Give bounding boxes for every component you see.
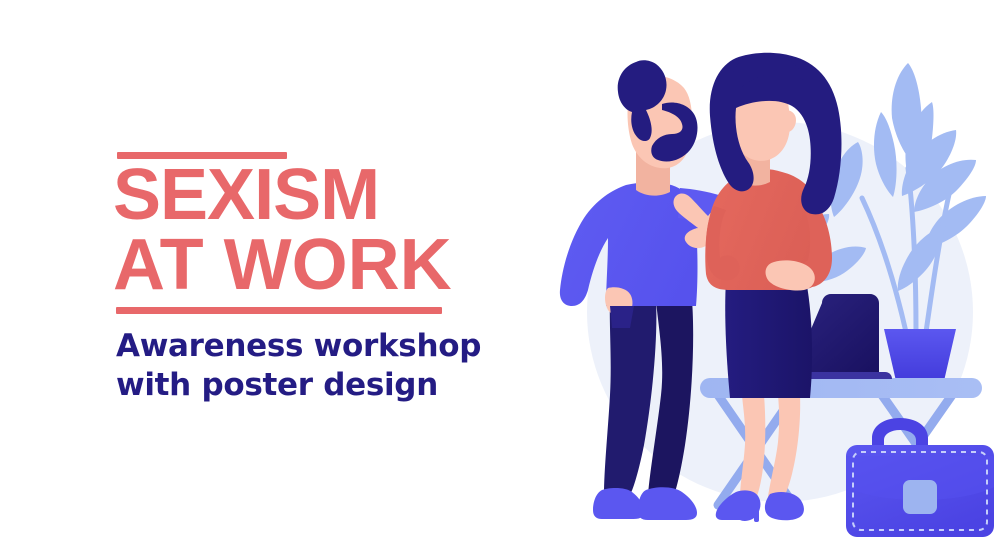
briefcase-clasp [903,480,937,514]
subtitle-line-2: with poster design [116,366,546,405]
page-title: SEXISM AT WORK [113,160,553,300]
text-pane: SEXISM AT WORK Awareness workshop with p… [0,0,560,555]
headline-bottom-rule [116,307,442,314]
man-shoe-right [638,487,697,520]
subtitle: Awareness workshop with poster design [116,327,546,405]
woman-heel-left-stiletto [754,500,759,522]
office-scene-svg [540,0,1000,555]
headline-line-2: AT WORK [113,230,553,300]
man-pocket-detail [610,306,634,328]
illustration [540,0,1000,555]
man-shoe-left [593,488,644,519]
headline-line-1: SEXISM [113,155,379,235]
subtitle-line-1: Awareness workshop [116,327,546,366]
poster-canvas: SEXISM AT WORK Awareness workshop with p… [0,0,1000,555]
woman-skirt [725,280,812,398]
man-leg-left [604,300,656,495]
